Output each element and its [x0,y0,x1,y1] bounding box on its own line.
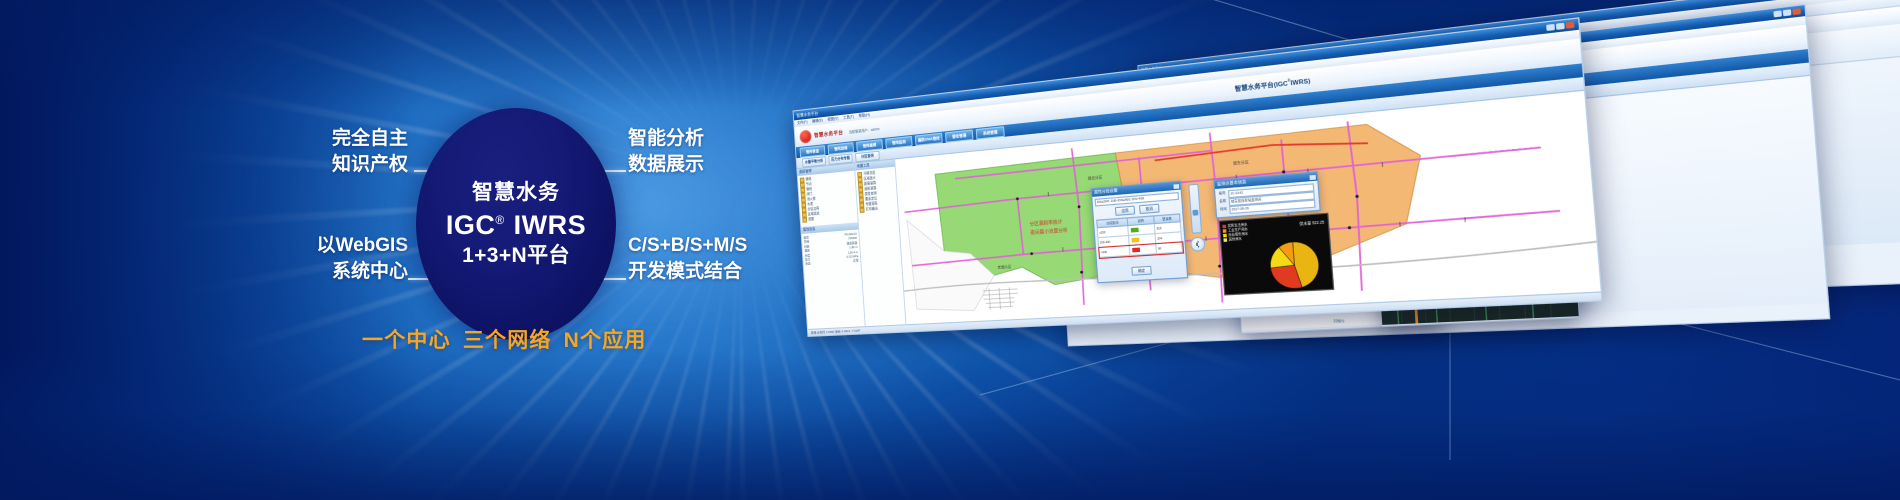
subnav-zone[interactable]: 分区查询 [855,150,880,162]
slider-knob[interactable] [1192,210,1198,216]
feature-top-left-line1: 完全自主 [268,126,408,152]
window-controls[interactable] [1546,22,1574,31]
maximize-icon[interactable] [1556,23,1565,30]
layer-tree[interactable]: 管网 节点 管段 阀门 消火栓 水表 分区边界 区域填充 底图 [798,171,858,225]
feature-bottom-left-line2: 系统中心 [260,259,408,285]
feature-bottom-right: C/S+B/S+M/S 开发模式结合 [628,233,838,285]
background-bottom-shade [0,350,1900,500]
segment-table: 分段区间 颜色 要素数 ≤200 318 200-400 [1096,213,1183,258]
segmentation-dialog[interactable]: 属性分段设置 DN≤200; 200<DN≤400; DN>400 应用 取消 … [1091,181,1189,284]
cancel-button[interactable]: 取消 [1139,204,1160,214]
core-line-1: 智慧水务 [472,181,560,204]
core-brand-iwrs: IWRS [514,210,587,240]
core-brand-igc: IGC [446,210,496,240]
dialog-close-icon[interactable] [1173,184,1179,189]
pie-chart-svg [1220,214,1333,294]
window-controls[interactable] [1773,8,1801,17]
core-line-3: 1+3+N平台 [462,244,570,267]
dialog-body: DN≤200; 200<DN≤400; DN>400 应用 取消 分段区间 颜色… [1092,190,1187,283]
core-circle: 智慧水务 IGC®IWRS 1+3+N平台 [416,108,616,340]
subnav-pressure[interactable]: 压力分布专题 [828,153,853,165]
feature-top-left-line2: 知识产权 [268,152,408,178]
feature-top-right: 智能分析 数据展示 [628,126,828,178]
feature-bottom-right-line2: 开发模式结合 [628,259,838,285]
app-title: 智慧水务平台(IGC®IWRS) [1235,76,1311,93]
cell-range: >400 [1099,245,1131,257]
tagline-part-3: N个应用 [564,329,647,352]
feature-top-right-line2: 数据展示 [628,152,828,178]
tagline-part-2: 三个网络 [463,329,552,352]
dialog-close-icon[interactable] [1309,174,1315,179]
monitor-info-dialog[interactable]: 监测点基本信息 编号 JC-0142 名称 城东加压泵站监测点 [1213,171,1321,218]
tagline-part-1: 一个中心 [362,329,451,352]
feature-top-right-line1: 智能分析 [628,126,828,152]
attr-val: 正常 [853,259,859,264]
banner-stage: 智慧水务平台(IGC 文件 编辑 视图 工具 帮助 智慧水务平台(IGC®IWR… [0,0,1900,500]
cell-count: 96 [1156,242,1182,254]
tagline: 一个中心三个网络N个应用 [362,324,782,354]
core-line-2: IGC®IWRS [446,211,586,239]
app-title-main: 智慧水务平台(IGC [1235,81,1288,94]
apply-button[interactable]: 应用 [1115,206,1135,216]
feature-bottom-left-line1: 以WebGIS [260,233,408,259]
logged-in-user: 当前登录用户：admin [849,125,880,133]
dialog-confirm-button[interactable]: 确定 [1131,266,1152,276]
feature-bottom-right-line1: C/S+B/S+M/S [628,233,838,259]
water-usage-pie-panel[interactable]: 居民生活用水 工业生产用水 商业服务用水 其他用水 供水量 522.25 [1219,213,1335,296]
minimize-icon[interactable] [1546,24,1555,31]
svg-text:老城片区: 老城片区 [997,263,1012,270]
feature-bottom-left: 以WebGIS 系统中心 [260,233,408,285]
cell-color [1130,244,1157,256]
feature-top-left: 完全自主 知识产权 [268,126,408,178]
chart-axis-label: 时间(h) [1334,318,1345,324]
close-icon[interactable] [1566,22,1575,29]
field-label: 时间 [1220,206,1227,214]
map-tool-list[interactable]: 平移浏览 区域放大 距离量算 面积量算 属性查询 要素定位 专题渲染 打印输出 [855,167,898,216]
app-title-tail: IWRS) [1290,78,1310,87]
registered-mark-icon: ® [495,213,504,227]
